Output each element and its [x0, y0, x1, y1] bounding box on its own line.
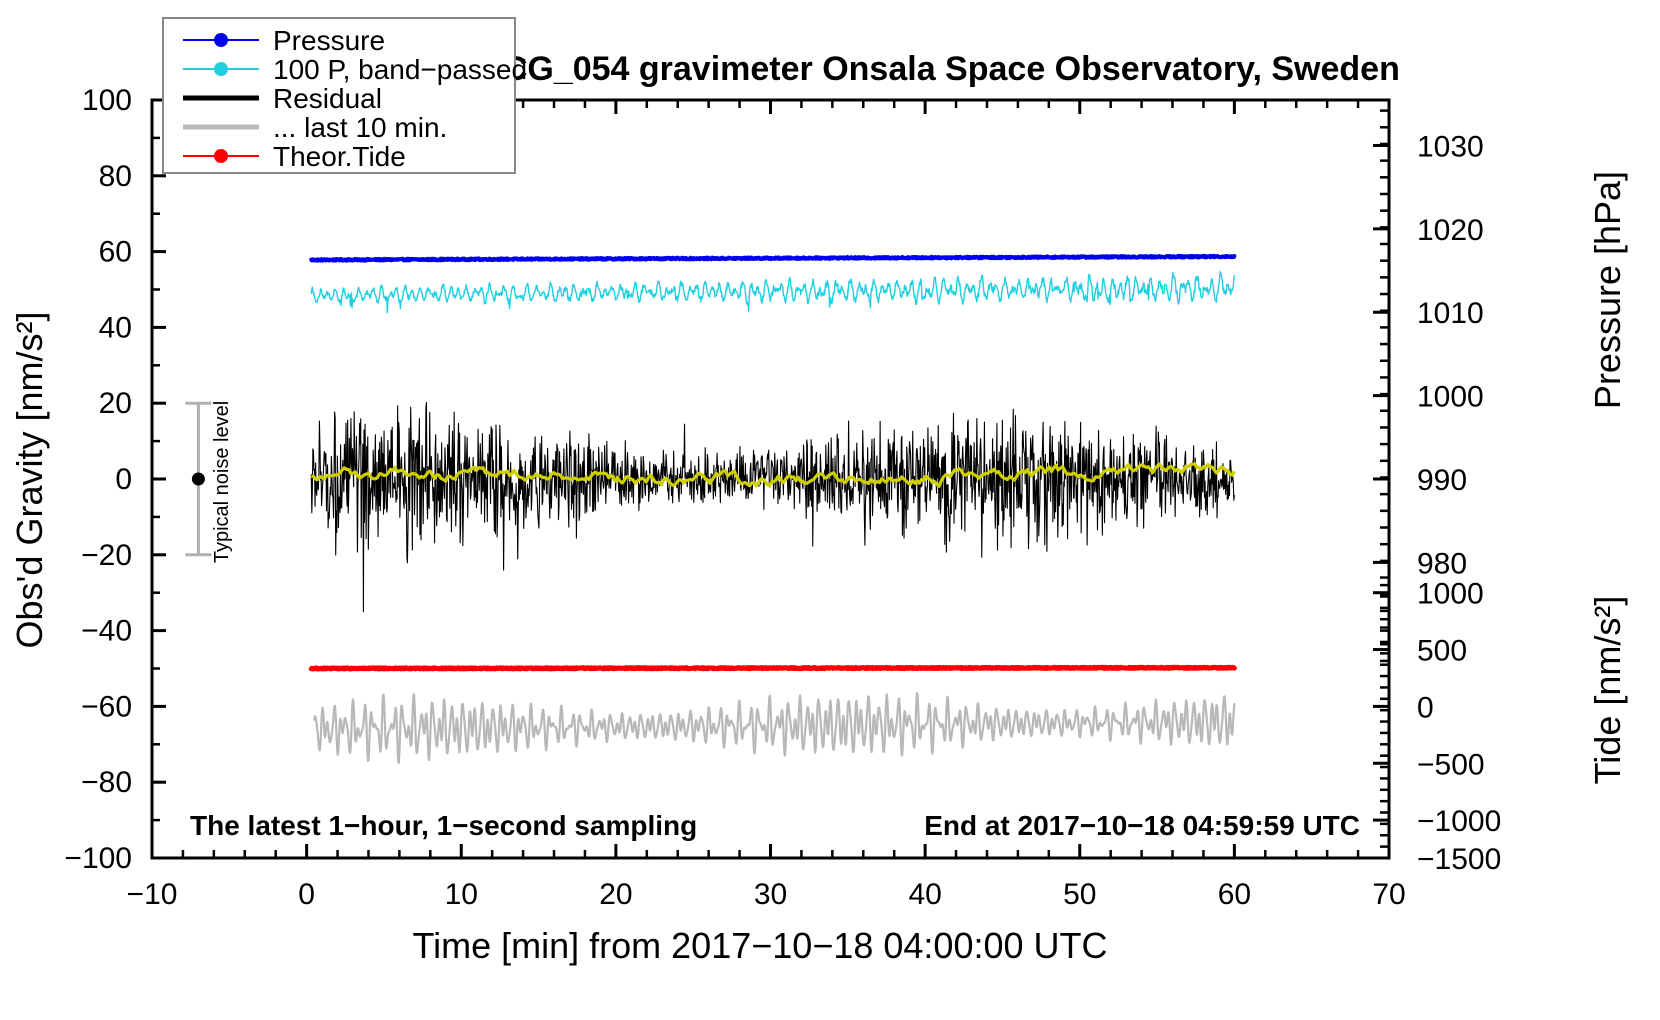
- x-tick-label: 20: [599, 878, 632, 911]
- y-tick-label: 0: [115, 463, 132, 496]
- y-tick-label: 20: [99, 387, 132, 420]
- x-tick-label: 50: [1063, 878, 1096, 911]
- y-tick-label: 40: [99, 311, 132, 344]
- y-tick-label: −40: [81, 615, 132, 648]
- y-tick-label: 80: [99, 160, 132, 193]
- tide-axis-title: Tide [nm/s²]: [1587, 596, 1628, 785]
- plot-stage: 100806040200−20−40−60−80−100−10010203040…: [0, 0, 1660, 1020]
- pressure-tick-label: 980: [1417, 547, 1467, 580]
- legend-item-label: Pressure: [273, 25, 385, 56]
- page-title: SCG_054 gravimeter Onsala Space Observat…: [480, 50, 1400, 88]
- y-tick-label: −80: [81, 766, 132, 799]
- x-tick-label: −10: [127, 878, 178, 911]
- y-tick-label: 100: [82, 84, 132, 117]
- noise-level-label: Typical noise level: [211, 401, 233, 563]
- legend[interactable]: Pressure100 P, band−passedResidual... la…: [163, 18, 527, 173]
- tide-tick-label: 0: [1417, 691, 1434, 724]
- legend-swatch-marker: [214, 33, 228, 47]
- tide-tick-label: 500: [1417, 635, 1467, 668]
- x-axis-title: Time [min] from 2017−10−18 04:00:00 UTC: [412, 925, 1107, 966]
- pressure-axis-title: Pressure [hPa]: [1587, 171, 1628, 409]
- pressure-tick-label: 1010: [1417, 297, 1484, 330]
- series-theor-tide: [311, 667, 1234, 669]
- y-tick-label: −20: [81, 539, 132, 572]
- pressure-tick-label: 1030: [1417, 130, 1484, 163]
- footer-right-note: End at 2017−10−18 04:59:59 UTC: [924, 810, 1360, 841]
- y-tick-label: −60: [81, 690, 132, 723]
- noise-level-marker: [192, 473, 205, 486]
- tide-tick-label: −1000: [1417, 805, 1501, 838]
- x-tick-label: 30: [754, 878, 787, 911]
- y-axis-title: Obs'd Gravity [nm/s²]: [9, 312, 50, 649]
- legend-swatch-marker: [214, 149, 228, 163]
- gravimeter-chart: 100806040200−20−40−60−80−100−10010203040…: [0, 0, 1660, 1020]
- y-tick-label: 60: [99, 236, 132, 269]
- legend-item-label: 100 P, band−passed: [273, 54, 527, 85]
- x-tick-label: 10: [445, 878, 478, 911]
- y-tick-label: −100: [64, 842, 132, 875]
- pressure-tick-label: 990: [1417, 464, 1467, 497]
- x-tick-label: 70: [1372, 878, 1405, 911]
- legend-item-label: Theor.Tide: [273, 141, 406, 172]
- x-tick-label: 60: [1218, 878, 1251, 911]
- tide-tick-label: −1500: [1417, 843, 1501, 876]
- tide-tick-label: −500: [1417, 748, 1485, 781]
- tide-tick-label: 1000: [1417, 578, 1484, 611]
- pressure-tick-label: 1020: [1417, 214, 1484, 247]
- legend-swatch-marker: [214, 62, 228, 76]
- x-tick-label: 0: [298, 878, 315, 911]
- pressure-tick-label: 1000: [1417, 381, 1484, 414]
- legend-item-label: ... last 10 min.: [273, 112, 447, 143]
- legend-item-label: Residual: [273, 83, 382, 114]
- footer-left-note: The latest 1−hour, 1−second sampling: [190, 810, 697, 841]
- x-tick-label: 40: [908, 878, 941, 911]
